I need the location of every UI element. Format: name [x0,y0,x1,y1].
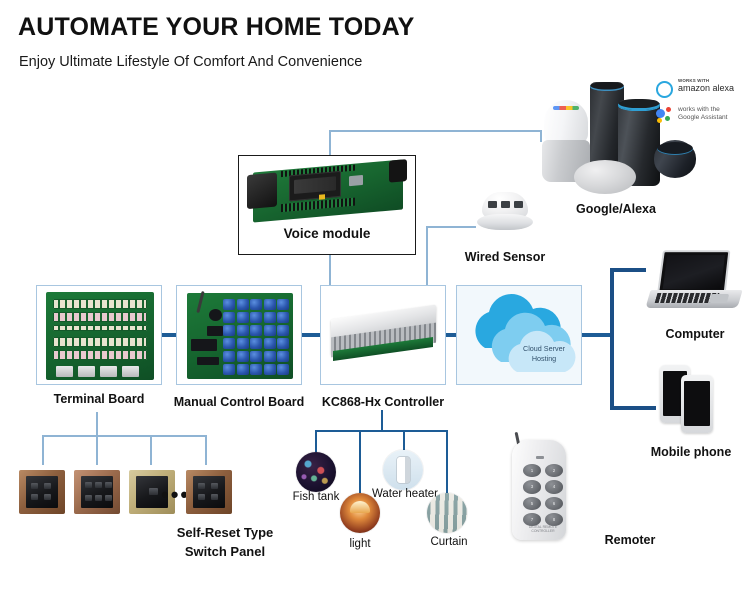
remote-keypad[interactable]: 1 2 3 4 5 6 7 8 [523,464,563,526]
google-badge-line2: Google Assistant [678,114,727,122]
cloud-caption: Cloud Server Hosting [513,344,575,363]
manual-control-board-pcb-icon [187,293,293,379]
diagram-canvas: AUTOMATE YOUR HOME TODAY Enjoy Ultimate … [0,0,750,608]
line-appliance-drop-curtain [446,430,448,493]
works-with-google-assistant-badge: works with the Google Assistant [652,104,748,126]
remoter-label: Remoter [580,533,680,548]
works-with-amazon-alexa-badge: WORKS WITH amazon alexa [652,79,748,101]
manual-control-board-label: Manual Control Board [166,395,312,410]
mobile-phone-icon[interactable] [654,365,734,435]
alexa-badge-line2: amazon alexa [678,84,734,93]
switch-panel-2[interactable] [74,470,120,514]
google-badge-line1: works with the [678,106,727,114]
terminal-board-box[interactable] [36,285,162,385]
page-title: AUTOMATE YOUR HOME TODAY [18,13,415,42]
computer-laptop-icon[interactable] [646,250,742,312]
line-appliance-drop-heater [403,430,405,450]
line-voice-to-controller [329,255,331,286]
switch-panel-4[interactable] [186,470,232,514]
terminal-board-label: Terminal Board [34,392,164,407]
fish-tank-icon[interactable] [296,452,336,492]
kc868-controller-label: KC868-Hx Controller [310,395,456,410]
cloud-caption-line2: Hosting [513,354,575,364]
voice-module-pcb-icon [253,159,403,222]
line-switch-drop-2 [96,435,98,465]
mobile-phone-label: Mobile phone [632,445,750,460]
remote-key-6[interactable]: 6 [545,497,563,510]
switch-panel-1[interactable] [19,470,65,514]
terminal-board-pcb-icon [46,292,154,380]
switch-panel-label-line2: Switch Panel [140,542,310,561]
amazon-echo-dot-icon [654,140,696,178]
speakers-label: Google/Alexa [556,202,676,217]
remote-key-4[interactable]: 4 [545,480,563,493]
remote-footer-text: DIGITAL REMOTE CONTROLLER [522,525,564,534]
switch-panel-label-line1: Self-Reset Type [140,523,310,542]
voice-module-box[interactable]: Voice module [238,155,416,255]
remote-key-1[interactable]: 1 [523,464,541,477]
line-voice-to-speakers-horizontal [329,130,542,132]
cloud-server-box[interactable]: Cloud Server Hosting [456,285,582,385]
remote-key-3[interactable]: 3 [523,480,541,493]
line-appliance-drop-fishtank [315,430,317,452]
wired-sensor-icon[interactable] [474,192,536,234]
page-subtitle: Enjoy Ultimate Lifestyle Of Comfort And … [19,54,362,70]
manual-control-board-box[interactable] [176,285,302,385]
google-assistant-dots-icon [656,107,674,123]
light-label: light [330,537,390,552]
google-home-mini-icon [574,160,636,194]
cloud-icon [457,286,583,386]
line-switch-drop-3 [150,435,152,465]
line-terminal-down [96,412,98,436]
line-manual-to-controller [302,333,322,337]
remote-key-5[interactable]: 5 [523,497,541,510]
line-top-to-voice-box [329,130,331,156]
remote-footer-line2: CONTROLLER [522,529,564,534]
water-heater-icon[interactable] [383,450,423,490]
line-device-bracket-vertical [610,268,614,410]
computer-label: Computer [640,327,750,342]
line-appliance-tree-bar [315,430,448,432]
wired-sensor-label: Wired Sensor [447,250,563,265]
line-appliance-drop-light [359,430,361,493]
voice-module-label: Voice module [239,226,415,241]
line-sensor-horizontal [426,226,476,228]
line-terminal-tree-bar [42,435,206,437]
cloud-caption-line1: Cloud Server [513,344,575,354]
line-sensor-to-controller [426,226,428,286]
switch-panel-label: Self-Reset Type Switch Panel [140,523,310,561]
line-switch-drop-1 [42,435,44,465]
remote-control-icon[interactable]: 1 2 3 4 5 6 7 8 DIGITAL REMOTE CONTROLLE… [508,432,570,542]
kc868-controller-box[interactable] [320,285,446,385]
curtain-label: Curtain [414,535,484,550]
alexa-ring-icon [656,81,673,98]
remote-key-2[interactable]: 2 [545,464,563,477]
line-bracket-to-computer [610,268,646,272]
line-switch-drop-4 [205,435,207,465]
line-bracket-to-mobile [610,406,656,410]
curtain-icon[interactable] [427,493,467,533]
line-controller-down [381,410,383,432]
